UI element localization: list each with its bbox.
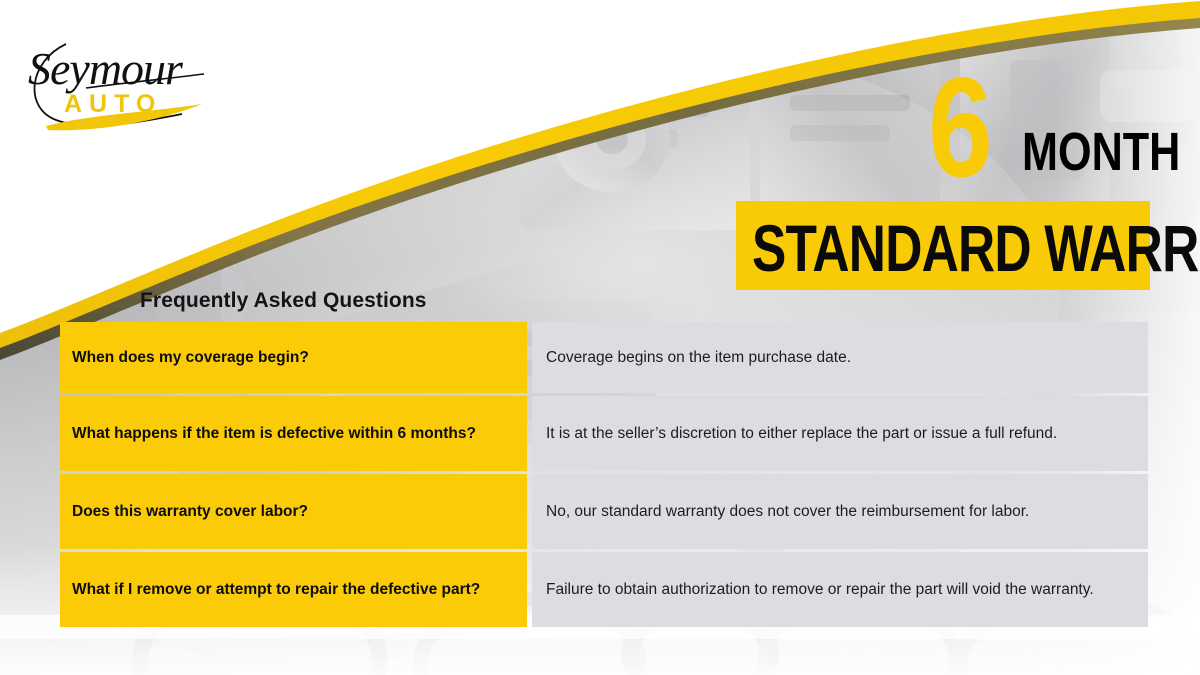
table-row: Does this warranty cover labor? No, our … bbox=[60, 474, 1148, 549]
faq-answer: Coverage begins on the item purchase dat… bbox=[532, 322, 1148, 393]
seymour-auto-logo: Seymour AUTO bbox=[22, 22, 222, 137]
warranty-duration-headline: 6 MONTH bbox=[900, 75, 1160, 195]
faq-answer: It is at the seller’s discretion to eith… bbox=[532, 396, 1148, 471]
faq-heading: Frequently Asked Questions bbox=[140, 289, 427, 313]
duration-number: 6 bbox=[928, 57, 991, 199]
warranty-title: STANDARD WARRANTY bbox=[752, 215, 1200, 281]
faq-answer: No, our standard warranty does not cover… bbox=[532, 474, 1148, 549]
warranty-slide: Seymour AUTO 6 MONTH STANDARD WARRANTY F… bbox=[0, 0, 1200, 675]
standard-warranty-banner: STANDARD WARRANTY bbox=[736, 201, 1150, 290]
svg-text:Seymour: Seymour bbox=[28, 43, 184, 94]
faq-question: What if I remove or attempt to repair th… bbox=[60, 552, 527, 627]
faq-question: When does my coverage begin? bbox=[60, 322, 527, 393]
faq-answer: Failure to obtain authorization to remov… bbox=[532, 552, 1148, 627]
table-row: When does my coverage begin? Coverage be… bbox=[60, 322, 1148, 393]
table-row: What if I remove or attempt to repair th… bbox=[60, 552, 1148, 627]
faq-table: When does my coverage begin? Coverage be… bbox=[60, 322, 1148, 630]
duration-unit: MONTH bbox=[1022, 125, 1180, 179]
faq-question: Does this warranty cover labor? bbox=[60, 474, 527, 549]
table-row: What happens if the item is defective wi… bbox=[60, 396, 1148, 471]
faq-question: What happens if the item is defective wi… bbox=[60, 396, 527, 471]
